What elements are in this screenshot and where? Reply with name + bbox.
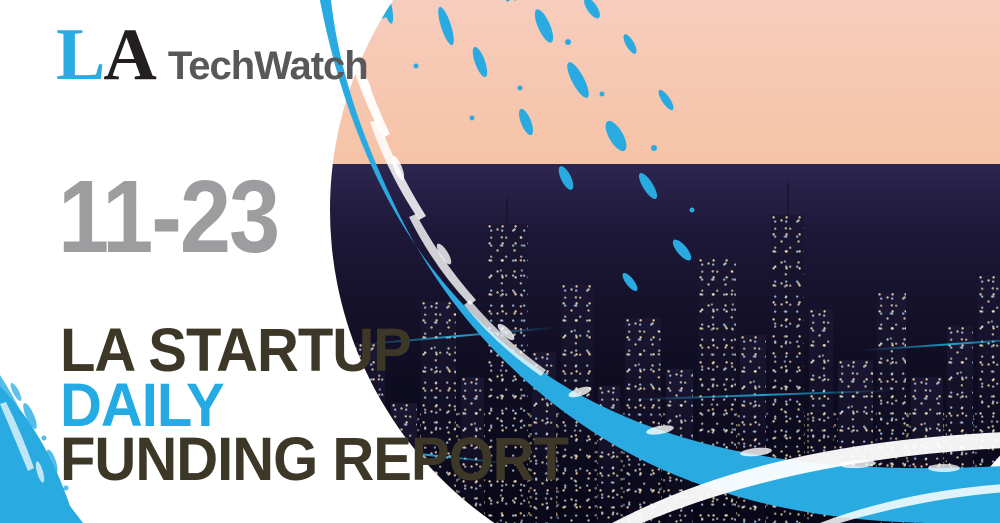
- headline-block: LA STARTUP DAILY FUNDING REPORT: [60, 322, 568, 486]
- logo-letter-a: A: [103, 22, 156, 89]
- logo-letter-l: L: [56, 22, 103, 89]
- poster-canvas: L A TechWatch 11-23 LA STARTUP DAILY FUN…: [0, 0, 1000, 523]
- headline-line-3: FUNDING REPORT: [60, 431, 568, 489]
- brand-logo[interactable]: L A TechWatch: [56, 22, 368, 89]
- logo-wordmark: TechWatch: [168, 46, 368, 86]
- report-date: 11-23: [58, 166, 278, 269]
